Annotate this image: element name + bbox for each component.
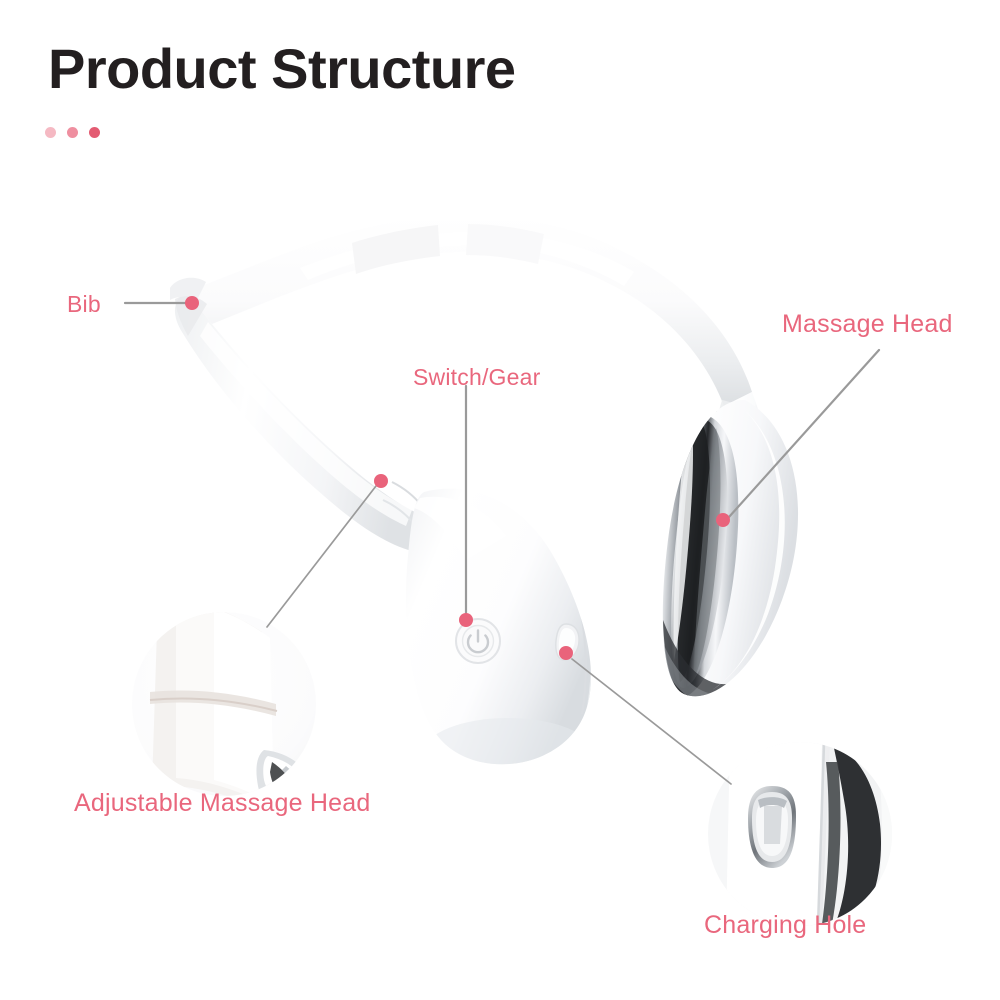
callout-label-massage-head: Massage Head — [782, 310, 953, 339]
leader-line-adjustable-massage-head — [267, 486, 376, 627]
leader-line-charging-hole — [572, 659, 731, 784]
callout-label-switch-gear: Switch/Gear — [413, 364, 540, 391]
hotspot-dot-massage-head — [716, 513, 730, 527]
callout-label-bib: Bib — [67, 291, 101, 318]
leader-line-massage-head — [729, 350, 879, 517]
callout-label-adjustable-massage-head: Adjustable Massage Head — [74, 789, 370, 818]
hotspot-dot-adjustable-massage-head — [374, 474, 388, 488]
product-structure-infographic: Product Structure — [0, 0, 1000, 1000]
callout-label-charging-hole: Charging Hole — [704, 911, 866, 940]
hotspot-dot-bib — [185, 296, 199, 310]
callout-leader-lines — [0, 0, 1000, 1000]
hotspot-dot-switch-gear — [459, 613, 473, 627]
hotspot-dot-charging-hole — [559, 646, 573, 660]
